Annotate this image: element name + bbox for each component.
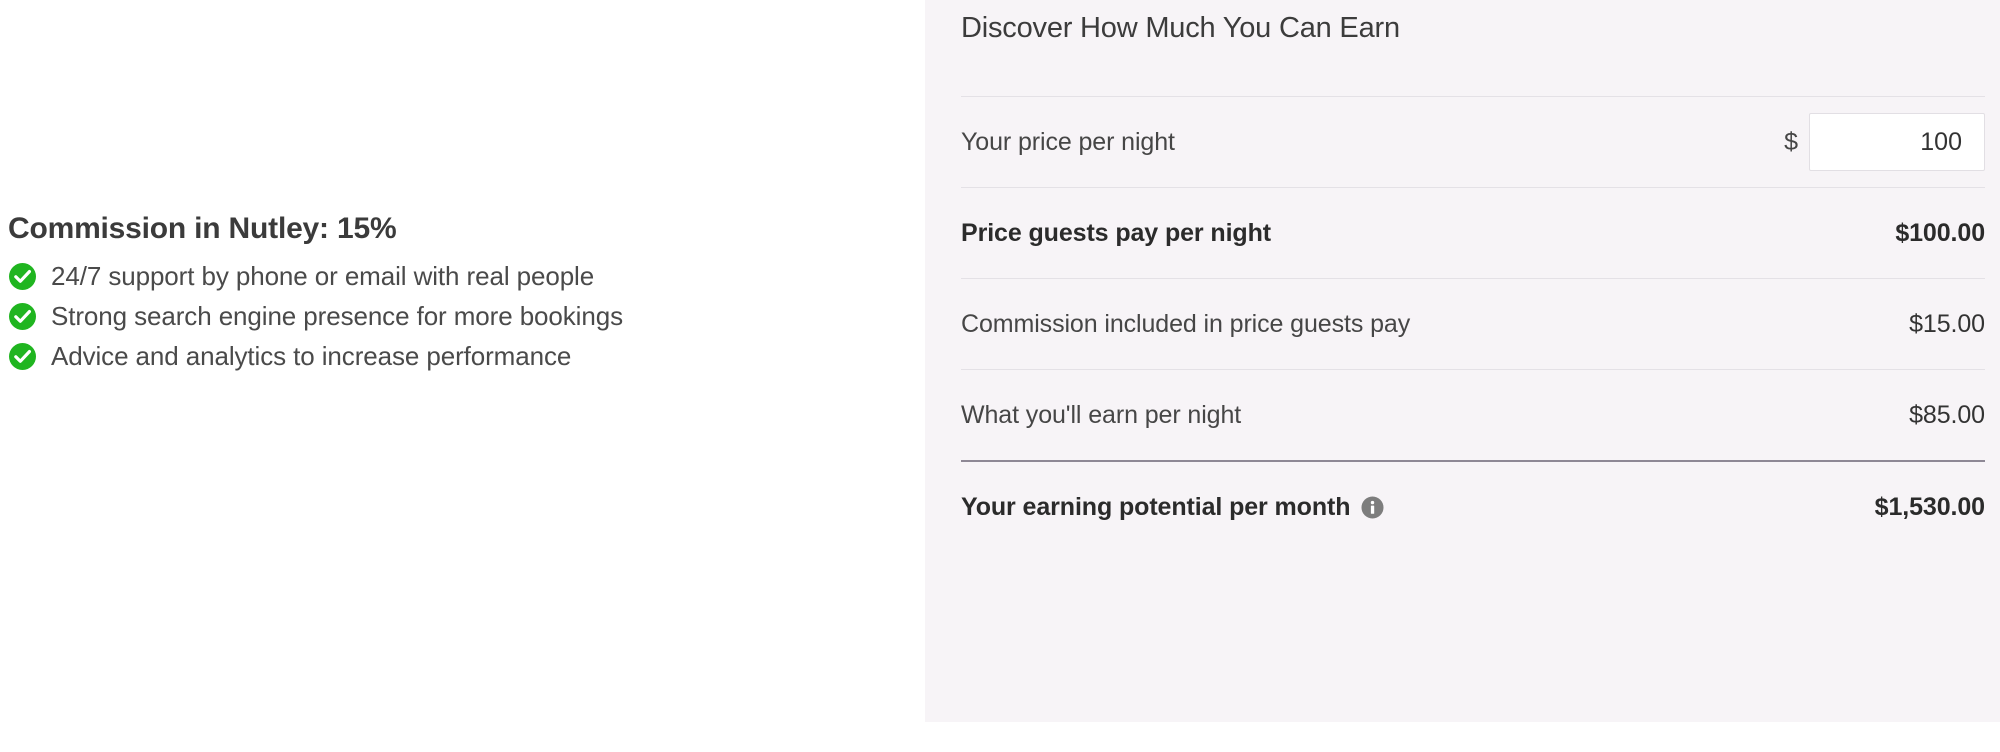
earning-potential-label-wrap: Your earning potential per month bbox=[961, 493, 1385, 522]
earn-per-night-label: What you'll earn per night bbox=[961, 401, 1241, 430]
commission-row: Commission included in price guests pay … bbox=[961, 279, 1985, 369]
earn-per-night-value: $85.00 bbox=[1909, 401, 1985, 430]
benefit-label: Strong search engine presence for more b… bbox=[51, 301, 623, 332]
benefit-item: 24/7 support by phone or email with real… bbox=[8, 261, 908, 292]
earnings-panel: Discover How Much You Can Earn Your pric… bbox=[925, 0, 2000, 722]
benefit-label: Advice and analytics to increase perform… bbox=[51, 341, 571, 372]
currency-symbol: $ bbox=[1784, 128, 1798, 157]
earning-potential-label: Your earning potential per month bbox=[961, 493, 1350, 522]
commission-label: Commission included in price guests pay bbox=[961, 310, 1410, 339]
benefits-block: Commission in Nutley: 15% 24/7 support b… bbox=[8, 212, 908, 381]
commission-value: $15.00 bbox=[1909, 310, 1985, 339]
price-per-night-label: Your price per night bbox=[961, 128, 1175, 157]
check-circle-icon bbox=[8, 302, 37, 331]
price-per-night-row: Your price per night $ bbox=[961, 97, 1985, 187]
price-guests-pay-value: $100.00 bbox=[1895, 219, 1985, 248]
earning-potential-row: Your earning potential per month $1,530.… bbox=[961, 462, 1985, 552]
earnings-calculator-page: Commission in Nutley: 15% 24/7 support b… bbox=[0, 0, 2000, 752]
earnings-rows: Your price per night $ Price guests pay … bbox=[961, 96, 1985, 552]
earn-per-night-row: What you'll earn per night $85.00 bbox=[961, 370, 1985, 460]
info-circle-icon[interactable] bbox=[1360, 495, 1385, 520]
benefit-label: 24/7 support by phone or email with real… bbox=[51, 261, 594, 292]
benefit-item: Strong search engine presence for more b… bbox=[8, 301, 908, 332]
price-input[interactable] bbox=[1809, 113, 1985, 171]
panel-title: Discover How Much You Can Earn bbox=[961, 12, 1400, 45]
check-circle-icon bbox=[8, 262, 37, 291]
price-control: $ bbox=[1784, 113, 1985, 171]
price-guests-pay-label: Price guests pay per night bbox=[961, 219, 1271, 248]
price-guests-pay-row: Price guests pay per night $100.00 bbox=[961, 188, 1985, 278]
check-circle-icon bbox=[8, 342, 37, 371]
benefits-column: Commission in Nutley: 15% 24/7 support b… bbox=[0, 0, 925, 752]
commission-heading: Commission in Nutley: 15% bbox=[8, 212, 908, 247]
earning-potential-value: $1,530.00 bbox=[1875, 493, 1985, 522]
benefit-item: Advice and analytics to increase perform… bbox=[8, 341, 908, 372]
